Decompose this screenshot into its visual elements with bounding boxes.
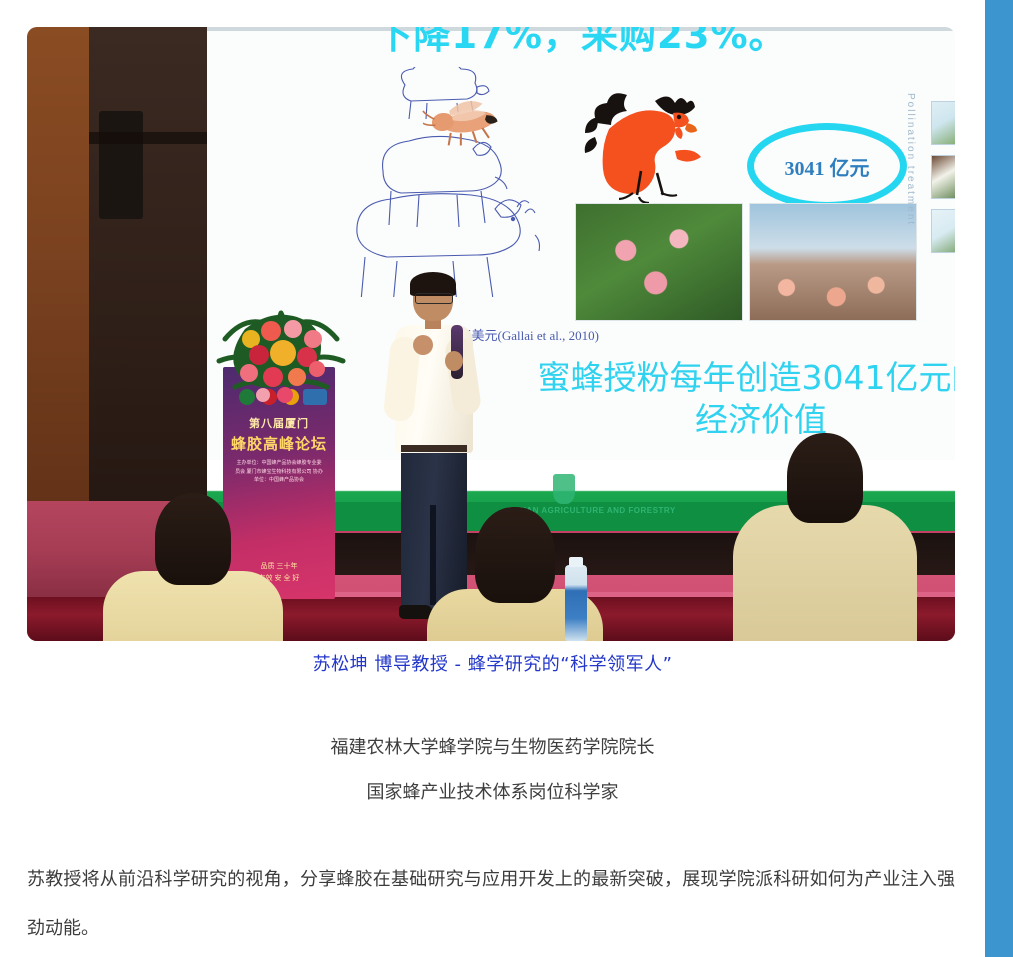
speaker-right-hand (445, 351, 463, 371)
pollination-thumb-3 (931, 209, 955, 253)
wall-dark-panel (89, 27, 207, 532)
value-highlight-ellipse: 3041 亿元 (747, 123, 907, 209)
pollination-thumb-2 (931, 155, 955, 199)
right-accent-bar (985, 0, 1013, 957)
pollination-treatment-group: Pollination treatment Caged Open Self (905, 67, 955, 275)
value-highlight-text: 3041 亿元 (785, 152, 870, 181)
water-bottle-cap (569, 557, 583, 567)
speaker-left-hand (413, 335, 433, 355)
credential-line-1: 福建农林大学蜂学院与生物医药学院院长 (0, 725, 985, 770)
rooster-illustration (579, 83, 729, 203)
water-bottle (565, 565, 587, 641)
photo-caption: 苏松坤 博导教授 - 蜂学研究的“科学领军人” (0, 650, 985, 676)
podium: 第八届厦门 蜂胶高峰论坛 主办单位：中国蜂产品协会蜂胶专业委员会 厦门市蜂宝生物… (223, 299, 335, 599)
conference-stage-photo[interactable]: 下降17%，采购23%。 (27, 27, 955, 641)
photo-inner: 下降17%，采购23%。 (27, 27, 955, 641)
livestock-sketch-illustration: 142亿美元(Gallai et al., 2010) (335, 67, 545, 297)
body-paragraph: 苏教授将从前沿科学研究的视角，分享蜂胶在基础研究与应用开发上的最新突破，展现学院… (27, 855, 955, 953)
slide-top-headline: 下降17%，采购23%。 (207, 27, 955, 59)
banner-title-line-2: 蜂胶高峰论坛 (223, 433, 335, 454)
banner-title-line-1: 第八届厦门 (223, 415, 335, 431)
glasses-icon (415, 293, 453, 304)
credentials-block: 福建农林大学蜂学院与生物医药学院院长 国家蜂产业技术体系岗位科学家 (0, 725, 985, 815)
wall-wood-panel (27, 27, 89, 557)
credential-line-2: 国家蜂产业技术体系岗位科学家 (0, 770, 985, 815)
speaker-belt (401, 445, 467, 452)
pa-speaker-cabinet (99, 111, 143, 219)
pollination-treatment-label: Pollination treatment (905, 93, 916, 226)
article-content-column: 下降17%，采购23%。 (0, 0, 985, 957)
slide-photo-orchard (575, 203, 743, 321)
wall-trim (89, 132, 207, 144)
speaker-leg-gap (430, 505, 436, 605)
slide-photo-harvest (749, 203, 917, 321)
speaker-person (379, 275, 487, 627)
banner-subtitle: 主办单位：中国蜂产品协会蜂胶专业委员会 厦门市蜂宝生物科技有限公司 协办单位：中… (235, 459, 323, 485)
flower-arrangement (215, 299, 347, 411)
